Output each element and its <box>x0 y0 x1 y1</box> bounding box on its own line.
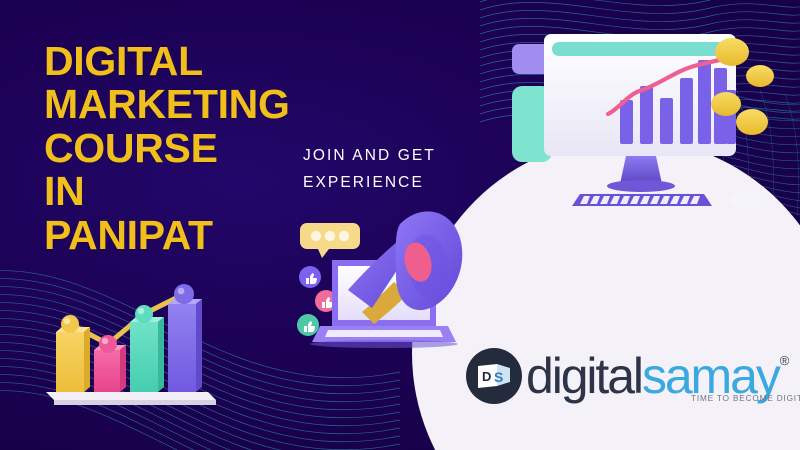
growth-chart-illustration <box>40 268 220 408</box>
monitor-analytics-illustration <box>508 22 776 212</box>
registered-trademark-icon: ® <box>780 353 790 368</box>
megaphone-laptop-illustration <box>288 204 488 354</box>
chat-bubble-icon <box>300 223 360 258</box>
logo-tagline: TIME TO BECOME DIGITAL <box>691 394 800 403</box>
bar-yellow <box>56 327 90 392</box>
bar-purple <box>168 299 202 392</box>
brand-logo[interactable]: D S digitalsamay ® TIME TO BECOME DIGITA… <box>466 348 789 404</box>
ds-monogram-icon: D S <box>475 361 513 391</box>
marketing-banner: DIGITAL MARKETING COURSE IN PANIPAT JOIN… <box>0 0 800 450</box>
logo-mark-icon: D S <box>466 348 522 404</box>
svg-text:S: S <box>494 369 503 385</box>
page-title: DIGITAL MARKETING COURSE IN PANIPAT <box>44 40 290 257</box>
svg-text:D: D <box>482 369 491 384</box>
logo-word-digital: digital <box>526 348 642 404</box>
page-subtitle: JOIN AND GET EXPERIENCE <box>303 142 436 196</box>
bar-teal <box>130 317 164 392</box>
thumbs-up-icon-group <box>297 266 337 336</box>
